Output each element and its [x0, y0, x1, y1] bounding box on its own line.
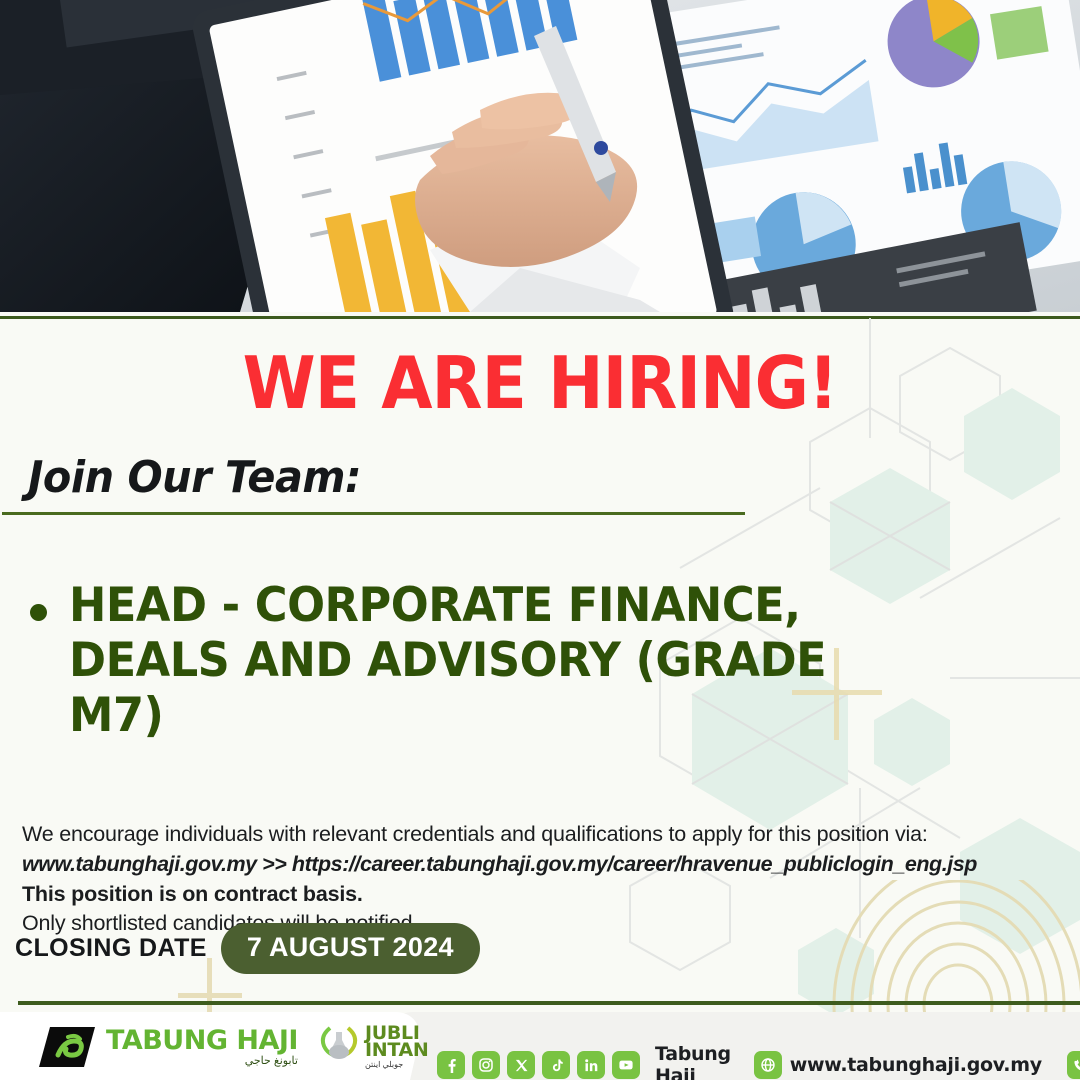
instructions-intro: We encourage individuals with relevant c…: [22, 820, 1032, 849]
instagram-icon[interactable]: [472, 1051, 500, 1079]
list-item: HEAD - CORPORATE FINANCE, DEALS AND ADVI…: [30, 578, 970, 743]
hiring-poster: WE ARE HIRING! Join Our Team: HEAD - COR…: [0, 0, 1080, 1080]
contract-notice: This position is on contract basis.: [22, 879, 1032, 909]
jubli-intan-group: JUBLI INTAN جوبلي اينتن: [318, 1024, 429, 1069]
x-twitter-icon[interactable]: [507, 1051, 535, 1079]
jubli-intan-logo-icon: [318, 1024, 360, 1069]
closing-date-label: CLOSING DATE: [15, 934, 221, 963]
globe-icon[interactable]: [754, 1051, 782, 1079]
closing-date-badge: 7 AUGUST 2024: [221, 923, 480, 974]
hero-photo: [0, 0, 1080, 312]
brand-arabic: تابونغ حاجي: [106, 1056, 298, 1067]
footer-bar: TABUNG HAJI تابونغ حاجي JUBLI: [0, 1012, 1080, 1080]
bullet-icon: [30, 604, 47, 621]
social-links-group: Tabung Haji www.tabunghaji.gov.my +603-6…: [437, 1032, 1080, 1080]
job-list: HEAD - CORPORATE FINANCE, DEALS AND ADVI…: [30, 578, 970, 743]
youtube-icon[interactable]: [612, 1051, 640, 1079]
hero-divider: [0, 312, 1080, 321]
brand-name: TABUNG HAJI: [106, 1027, 298, 1054]
jubli-line3: جوبلي اينتن: [365, 1061, 429, 1068]
job-title: HEAD - CORPORATE FINANCE, DEALS AND ADVI…: [69, 578, 925, 743]
footer-divider: [18, 1001, 1080, 1005]
application-url[interactable]: www.tabunghaji.gov.my >> https://career.…: [22, 849, 1032, 879]
subheading-divider: [2, 512, 745, 515]
page-title: WE ARE HIRING!: [43, 347, 1037, 419]
facebook-icon[interactable]: [437, 1051, 465, 1079]
website-group[interactable]: www.tabunghaji.gov.my: [754, 1051, 1042, 1079]
social-handle: Tabung Haji: [655, 1043, 731, 1080]
tabung-haji-logo-icon: [38, 1025, 96, 1069]
phone-icon[interactable]: [1067, 1051, 1080, 1079]
jubli-line2: INTAN: [365, 1042, 429, 1059]
closing-date-group: CLOSING DATE 7 AUGUST 2024: [15, 923, 480, 974]
subheading: Join Our Team:: [28, 452, 361, 503]
website-url[interactable]: www.tabunghaji.gov.my: [790, 1054, 1042, 1076]
linkedin-icon[interactable]: [577, 1051, 605, 1079]
footer-brand-group: TABUNG HAJI تابونغ حاجي JUBLI: [38, 1024, 429, 1069]
phone-group[interactable]: +603-6207 1919: [1067, 1032, 1080, 1080]
tiktok-icon[interactable]: [542, 1051, 570, 1079]
application-instructions: We encourage individuals with relevant c…: [22, 820, 1032, 938]
